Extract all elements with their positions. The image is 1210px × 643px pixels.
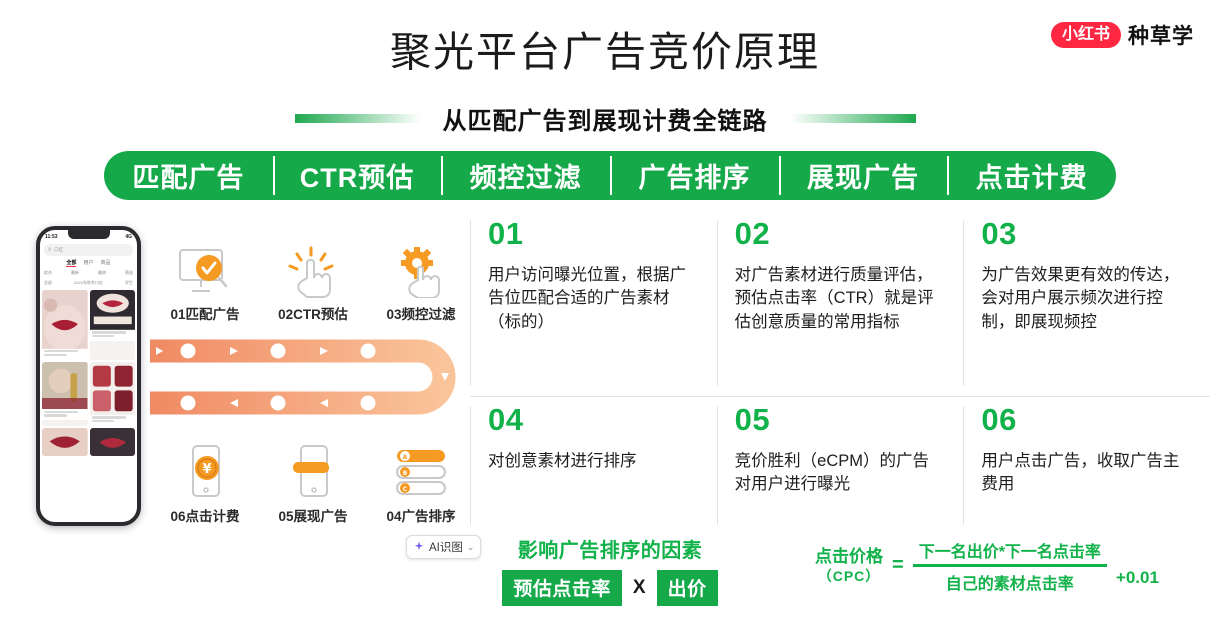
formula-denominator: 自己的素材点击率: [913, 567, 1107, 594]
flow-label-show-ads: 05展现广告: [268, 505, 358, 525]
chip-hottest[interactable]: 最热: [98, 270, 106, 276]
card-number: 01: [488, 218, 695, 251]
feed-image: [42, 362, 88, 409]
feed-meta: [90, 415, 136, 426]
card-description: 对广告素材进行质量评估，预估点击率（CTR）就是评估创意质量的常用指标: [735, 264, 942, 336]
flow-step-ctr: 02CTR预估: [268, 236, 358, 323]
phone-notch: [68, 230, 110, 239]
monitor-check-icon: [160, 236, 250, 298]
sparkle-icon: [413, 540, 425, 555]
card-number: 06: [981, 404, 1188, 437]
phone-search-text: 口红: [54, 247, 63, 253]
flow-step-freq-filter: 03频控过滤: [376, 236, 466, 323]
steps-detail-grid: 01 用户访问曝光位置，根据广告位匹配合适的广告素材（标的） 02 对广告素材进…: [470, 210, 1210, 535]
phone-tab-user[interactable]: 用户: [83, 259, 93, 267]
card-description: 对创意素材进行排序: [488, 450, 695, 474]
brand-logo: 小红书 种草学: [1051, 20, 1194, 50]
formula-label-sub: （CPC）: [815, 568, 883, 586]
phone-signal-icon: 4G: [125, 234, 132, 240]
feed-card[interactable]: [42, 290, 88, 360]
subtitle-label: 从匹配广告到展现计费全链路: [443, 101, 768, 136]
chevron-down-icon[interactable]: ⌄: [467, 542, 475, 553]
ranking-factors-block: 影响广告排序的因素 预估点击率 X 出价: [455, 534, 765, 606]
subchip-aw-lipstick[interactable]: 2021年秋冬口红: [74, 280, 103, 286]
subchip-all[interactable]: 全部: [44, 280, 52, 286]
flow-path-icon: [150, 336, 462, 418]
phone-filter-chips: 综合 最新 最热 筛选: [40, 268, 137, 278]
detail-card-03: 03 为广告效果更有效的传达，会对用户展示频次进行控制，即展现频控: [963, 210, 1210, 396]
chip-filter[interactable]: 筛选: [125, 270, 133, 276]
detail-card-06: 06 用户点击广告，收取广告主费用: [963, 396, 1210, 535]
feed-image: [90, 428, 136, 456]
step-show-ads[interactable]: 展现广告: [779, 151, 948, 200]
ranking-factors-row: 预估点击率 X 出价: [455, 570, 765, 606]
cpc-formula: 点击价格 （CPC） = 下一名出价*下一名点击率 自己的素材点击率 +0.01: [815, 538, 1159, 594]
formula-addend: +0.01: [1116, 568, 1159, 594]
subtitle-row: 从匹配广告到展现计费全链路: [0, 101, 1210, 136]
feed-image: [42, 428, 88, 456]
phone-tab-all[interactable]: 全部: [66, 259, 76, 267]
subchip-student[interactable]: 学生: [125, 280, 133, 286]
flow-step-show-ads: 05展现广告: [268, 438, 358, 525]
formula-fraction: 下一名出价*下一名点击率 自己的素材点击率: [913, 538, 1107, 594]
phone-tab-goods[interactable]: 商品: [101, 259, 111, 267]
svg-text:B: B: [403, 470, 408, 477]
feed-card[interactable]: [90, 290, 136, 360]
phone-tab-row: 全部 用户 商品: [40, 257, 137, 268]
ranking-factors-title: 影响广告排序的因素: [455, 534, 765, 563]
step-frequency-filter[interactable]: 频控过滤: [441, 151, 610, 200]
formula-label-main: 点击价格: [815, 546, 883, 567]
phone-search-bar[interactable]: ⚲ 口红: [44, 244, 133, 256]
card-description: 用户点击广告，收取广告主费用: [981, 450, 1188, 498]
feed-image: [42, 290, 88, 349]
subtitle-rule-right-icon: [790, 114, 916, 123]
step-ad-ranking[interactable]: 广告排序: [610, 151, 779, 200]
phone-feed-grid: [40, 288, 137, 458]
feed-card[interactable]: [90, 362, 136, 426]
phone-mockup: 11:53 4G ⚲ 口红 全部 用户 商品 综合 最新 最热 筛选 全部 20…: [36, 226, 141, 526]
card-description: 竞价胜利（eCPM）的广告对用户进行曝光: [735, 450, 942, 498]
flow-label-match-ads: 01匹配广告: [160, 303, 250, 323]
factor-operator: X: [633, 577, 646, 599]
slide-root: 聚光平台广告竞价原理 小红书 种草学 从匹配广告到展现计费全链路 匹配广告 CT…: [0, 0, 1210, 643]
phone-sub-chips: 全部 2021年秋冬口红 学生: [40, 278, 137, 288]
step-ctr-prediction[interactable]: CTR预估: [273, 151, 442, 200]
svg-text:A: A: [403, 454, 408, 461]
flow-label-ad-ranking: 04广告排序: [376, 505, 466, 525]
step-match-ads[interactable]: 匹配广告: [104, 151, 273, 200]
flow-label-freq-filter: 03频控过滤: [376, 303, 466, 323]
chip-comprehensive[interactable]: 综合: [44, 270, 52, 276]
phone-banner-icon: [268, 438, 358, 500]
svg-text:¥: ¥: [202, 462, 211, 477]
feed-card[interactable]: [42, 362, 88, 426]
feed-meta: [42, 349, 88, 360]
ai-image-recognize-button[interactable]: AI识图 ⌄: [406, 535, 481, 559]
detail-card-05: 05 竞价胜利（eCPM）的广告对用户进行曝光: [717, 396, 964, 535]
detail-card-04: 04 对创意素材进行排序: [470, 396, 717, 535]
feed-card[interactable]: [90, 428, 136, 456]
factor-tag-ctr: 预估点击率: [502, 570, 622, 606]
ranking-list-icon: A B C: [376, 438, 466, 500]
click-hand-icon: [268, 236, 358, 298]
step-click-billing[interactable]: 点击计费: [947, 151, 1116, 200]
feed-image: [90, 290, 136, 330]
card-description: 为广告效果更有效的传达，会对用户展示频次进行控制，即展现频控: [981, 264, 1188, 336]
formula-numerator: 下一名出价*下一名点击率: [913, 538, 1107, 564]
chip-newest[interactable]: 最新: [71, 270, 79, 276]
detail-card-02: 02 对广告素材进行质量评估，预估点击率（CTR）就是评估创意质量的常用指标: [717, 210, 964, 396]
card-number: 03: [981, 218, 1188, 251]
flow-illustration: 11:53 4G ⚲ 口红 全部 用户 商品 综合 最新 最热 筛选 全部 20…: [0, 208, 468, 538]
page-title: 聚光平台广告竞价原理: [0, 18, 1210, 78]
phone-clock: 11:53: [45, 234, 58, 240]
feed-meta: [90, 330, 136, 341]
feed-meta: [42, 409, 88, 420]
feed-image: [90, 362, 136, 415]
card-number: 02: [735, 218, 942, 251]
card-description: 用户访问曝光位置，根据广告位匹配合适的广告素材（标的）: [488, 264, 695, 336]
ai-button-label: AI识图: [429, 539, 463, 555]
feed-card[interactable]: [42, 428, 88, 456]
brand-name-label: 种草学: [1128, 20, 1194, 50]
card-number: 05: [735, 404, 942, 437]
formula-equals: =: [892, 554, 904, 577]
xiaohongshu-pill-logo: 小红书: [1051, 22, 1121, 49]
svg-text:C: C: [403, 486, 408, 493]
detail-card-01: 01 用户访问曝光位置，根据广告位匹配合适的广告素材（标的）: [470, 210, 717, 396]
phone-yuan-coin-icon: ¥: [160, 438, 250, 500]
flow-step-match-ads: 01匹配广告: [160, 236, 250, 323]
formula-label: 点击价格 （CPC）: [815, 546, 883, 585]
card-number: 04: [488, 404, 695, 437]
flow-step-ad-ranking: A B C 04广告排序: [376, 438, 466, 525]
flow-icons-top-row: 01匹配广告 02CTR预估: [160, 236, 466, 323]
flow-icons-bottom-row: ¥ 06点击计费 05展现广告: [160, 438, 466, 525]
steps-bar: 匹配广告 CTR预估 频控过滤 广告排序 展现广告 点击计费: [104, 151, 1116, 200]
factor-tag-bid: 出价: [657, 570, 718, 606]
gear-hand-icon: [376, 236, 466, 298]
search-icon: ⚲: [48, 247, 51, 253]
flow-label-ctr: 02CTR预估: [268, 303, 358, 323]
flow-label-click-billing: 06点击计费: [160, 505, 250, 525]
subtitle-rule-left-icon: [295, 114, 421, 123]
flow-step-click-billing: ¥ 06点击计费: [160, 438, 250, 525]
